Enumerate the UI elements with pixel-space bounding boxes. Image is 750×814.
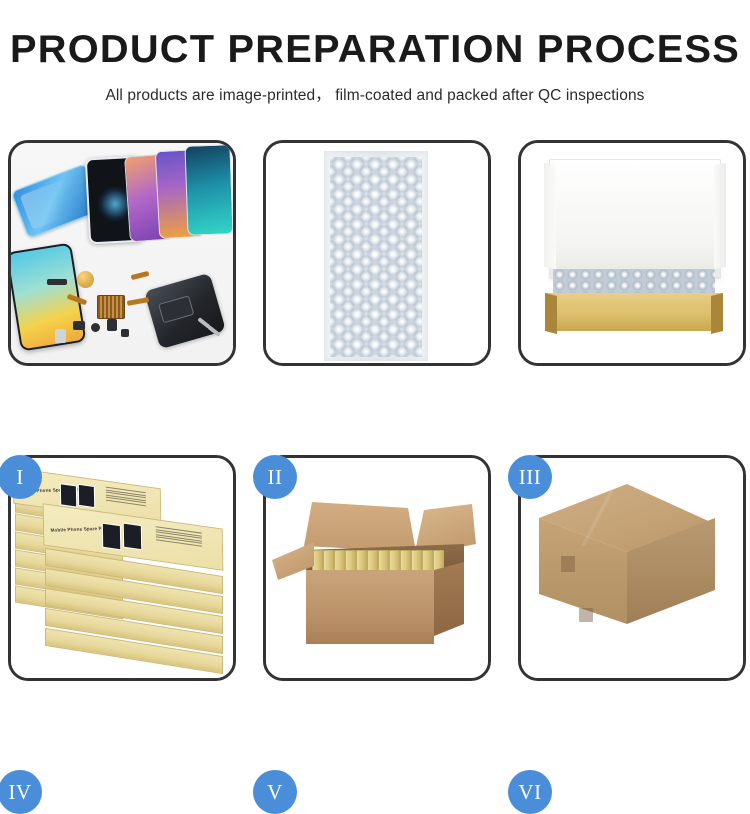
step-3-image-open-kraft-box-with-bubble-wrap (521, 143, 743, 363)
page-title: PRODUCT PREPARATION PROCESS (0, 0, 750, 69)
process-step-card-1 (8, 140, 236, 366)
screen-graphic (78, 484, 95, 508)
step-badge-4: IV (0, 770, 42, 814)
step-badge-5: V (253, 770, 297, 814)
carton-handle-slot (561, 556, 575, 572)
battery-part-icon (47, 279, 67, 285)
carton-handle-slot (579, 608, 593, 622)
header: PRODUCT PREPARATION PROCESS All products… (0, 0, 750, 105)
flex-cable-icon (131, 271, 150, 280)
small-component-icon (107, 319, 117, 331)
process-step-card-5 (263, 455, 491, 681)
small-component-icon (91, 323, 100, 332)
step-4-image-stacked-spare-part-boxes: Mobile Phone Spare Parts Mobile Phone Sp… (11, 458, 233, 678)
process-step-card-6 (518, 455, 746, 681)
step-2-image-bubble-wrap-pouch (266, 143, 488, 363)
process-step-card-2 (263, 140, 491, 366)
phone-screen-teal (184, 144, 233, 236)
step-badge-1: I (0, 455, 42, 499)
step-1-image-phone-screens-and-spare-parts (11, 143, 233, 363)
bubble-wrap-pouch (324, 151, 428, 361)
step-5-image-open-carton-with-boxes (266, 458, 488, 678)
phone-back-housing (144, 273, 226, 349)
carton-body-side (434, 562, 464, 636)
small-component-icon (121, 329, 129, 337)
step-badge-3: III (508, 455, 552, 499)
product-preparation-infographic: PRODUCT PREPARATION PROCESS All products… (0, 0, 750, 750)
screen-graphic (123, 523, 142, 551)
screen-graphic (102, 523, 121, 551)
process-step-card-3 (518, 140, 746, 366)
box-lid-open (549, 159, 721, 279)
box-stacks: Mobile Phone Spare Parts Mobile Phone Sp… (11, 458, 233, 678)
page-subtitle: All products are image-printed， film-coa… (0, 69, 750, 105)
process-step-grid: Mobile Phone Spare Parts Mobile Phone Sp… (8, 140, 742, 740)
carton-flap-back (304, 502, 416, 554)
speaker-part-icon (77, 271, 94, 288)
kraft-box-body (545, 293, 723, 331)
small-component-icon (73, 321, 85, 330)
step-badge-6: VI (508, 770, 552, 814)
screen-graphic (60, 483, 77, 507)
step-badge-2: II (253, 455, 297, 499)
small-component-icon (55, 329, 66, 343)
step-6-image-sealed-shipping-carton (521, 458, 743, 678)
process-step-card-4: Mobile Phone Spare Parts Mobile Phone Sp… (8, 455, 236, 681)
carton-body-front (306, 570, 434, 644)
connector-pad-icon (97, 295, 125, 319)
flex-cable-icon (127, 297, 150, 306)
bubble-pattern (330, 157, 422, 357)
